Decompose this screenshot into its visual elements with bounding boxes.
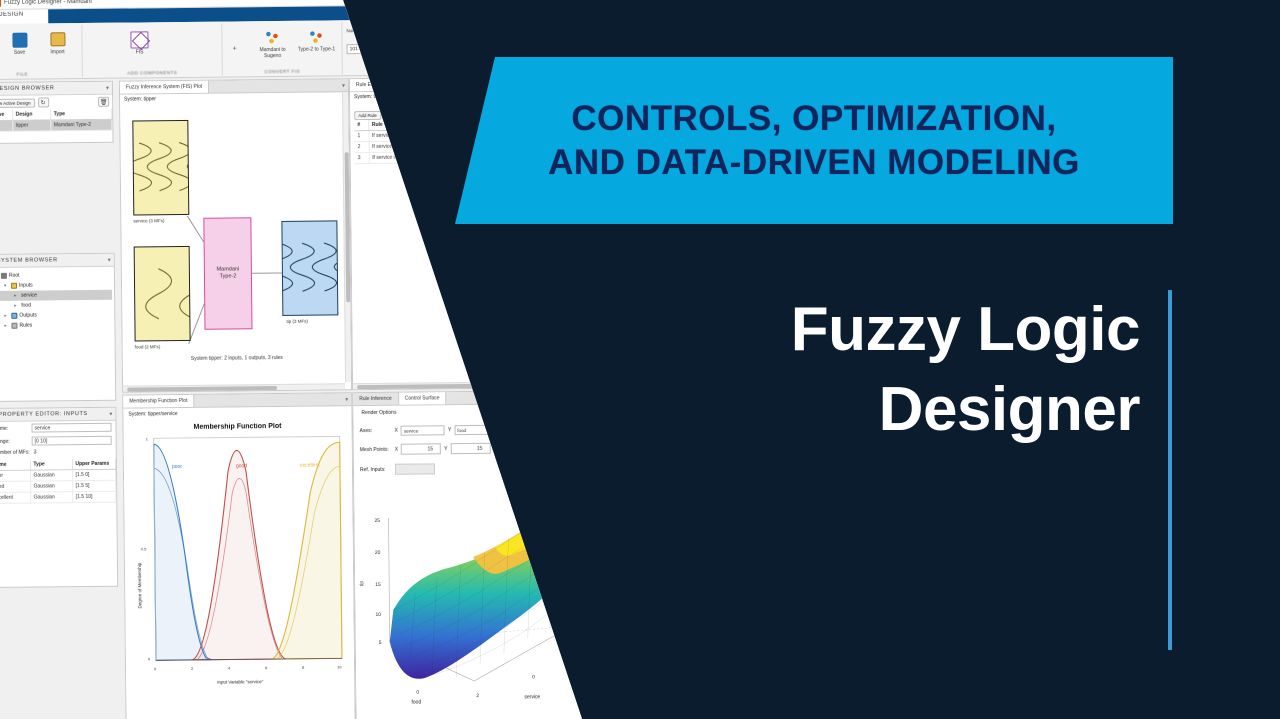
y-tick-0: 0 [148,656,150,661]
title-line-1: Fuzzy Logic [640,290,1140,370]
num-mfs-value: 3 [34,450,37,456]
mesh-points-row: Mesh Points: X 15 Y 15 [360,443,491,455]
fis-icon [122,29,156,49]
cell-mf-name: excellent [0,492,30,503]
fis-input1-label: service (3 MFs) [133,218,164,223]
ribbon-group-convert-fis: + Mamdani to Sugeno Type-2 to Type-1 CON… [222,22,343,75]
y-tick-05: 0.5 [141,546,147,551]
system-browser-panel: ▾ SYSTEM BROWSER ▾ ▾ Root ▾ Inputs [0,253,116,402]
output-icon [11,313,17,319]
ribbon-group-file: New Save Import FILE [0,25,83,78]
ribbon-group-simulation: Number of Samples 101 [342,21,423,74]
axes-x-select[interactable]: service [401,425,445,435]
name-label: Name: [0,425,28,431]
ribbon-button-type2-to-type1[interactable]: Type-2 to Type-1 [296,26,336,52]
headline-banner: CONTROLS, OPTIMIZATION, AND DATA-DRIVEN … [455,57,1173,224]
axes-y-select[interactable]: food [454,425,494,435]
col-type: Type [50,109,112,120]
mf-legend-poor: poor [172,464,182,470]
banner-text: CONTROLS, OPTIMIZATION, AND DATA-DRIVEN … [548,97,1080,185]
design-browser-toolbar: New Active Design ↻ 🗑 [0,95,112,110]
refresh-icon[interactable]: ↻ [38,97,49,107]
panel-menu-icon[interactable]: ▾ [106,84,109,91]
ribbon-button-import-label: Import [41,49,75,55]
svg-text:25: 25 [374,518,380,524]
svg-text:0: 0 [532,674,535,680]
svg-text:10: 10 [375,612,381,618]
mesh-points-label: Mesh Points: [360,446,392,452]
design-browser-panel: ▾ DESIGN BROWSER ▾ New Active Design ↻ 🗑… [0,81,114,144]
tab-rule-inference[interactable]: Rule Inference [353,393,399,405]
cell-mf-type: Gaussian [30,492,72,503]
ribbon-group-add-components-label: ADD COMPONENTS [83,70,222,76]
svg-text:tip: tip [359,581,365,587]
chevron-right-icon[interactable]: ▸ [4,313,9,319]
title-card-slide: Fuzzy Logic Designer - Mamdani DESIGN Ne… [0,0,1280,719]
tree-node-root-label: Root [9,273,20,279]
x-tick-10: 10 [337,664,342,669]
ribbon-button-type2-to-type1-label: Type-2 to Type-1 [297,46,337,52]
property-editor-title: PROPERTY EDITOR: INPUTS [0,411,106,418]
ref-inputs-label: Ref. Inputs: [360,466,392,472]
ribbon-button-fis[interactable]: FIS [122,29,156,55]
ribbon-button-fis-label: FIS [123,49,157,55]
property-nummfs-row: Number of MFs: 3 [0,447,116,458]
axes-row: Axes: X service Y food [360,425,495,436]
save-icon [2,30,36,50]
chevron-right-icon[interactable]: ▸ [14,303,19,309]
chevron-right-icon[interactable]: ▸ [4,323,9,329]
svg-text:5: 5 [379,640,382,646]
chevron-down-icon[interactable]: ▾ [4,283,9,289]
ribbon-button-save[interactable]: Save [2,30,36,56]
fis-input2-label: food (2 MFs) [135,344,161,349]
panel-menu-icon[interactable]: ▾ [108,256,111,263]
cell-mf-type: Gaussian [30,481,72,492]
mesh-y-input[interactable]: 15 [450,443,490,454]
fis-input2-box[interactable] [134,246,191,342]
system-browser-title: SYSTEM BROWSER [0,257,105,264]
cell-type: Mamdani Type-2 [50,119,112,131]
trash-icon[interactable]: 🗑 [98,97,109,107]
control-surface-body: Render Options Axes: X service Y food Me… [353,404,584,716]
render-options-label: Render Options [361,410,396,416]
accent-divider [1168,290,1172,650]
cell-rule-number: 1 [354,131,368,142]
cell-rule-number: 3 [355,153,369,164]
output-mf-thumbnail [282,221,337,315]
import-icon [40,29,74,49]
title-line-2: Designer [640,370,1140,450]
system-browser-header[interactable]: ▾ SYSTEM BROWSER ▾ [0,254,114,268]
tab-design[interactable]: DESIGN [0,12,24,18]
mf-y-axis-label: Degree of Membership [137,563,142,609]
mf-table: Name Type Upper Params poor Gaussian [1.… [0,459,116,504]
surface-y-axis-label: service [524,694,540,700]
mesh-x-symbol: X [395,446,398,452]
control-surface-tabbar[interactable]: Rule Inference Control Surface [353,391,581,406]
mf-plot-svg [124,432,357,694]
number-of-samples-label: Number of Samples [346,28,386,34]
col-mf-params: Upper Params [72,459,116,470]
ribbon-button-mamdani-to-sugeno-label: Mamdani to Sugeno [253,47,293,59]
fis-center-line2: Type-2 [219,273,236,280]
x-tick-8: 8 [302,665,304,670]
ref-inputs-input[interactable] [395,463,435,474]
mesh-x-input[interactable]: 15 [401,443,441,454]
tab-fis-plot[interactable]: Fuzzy Inference System (FIS) Plot [120,81,209,94]
tab-control-surface[interactable]: Control Surface [399,392,447,404]
table-row[interactable]: ✓ tipper Mamdani Type-2 [0,119,112,131]
range-field[interactable]: [0 10] [32,436,112,446]
property-name-row: Name: service [0,421,116,435]
ribbon-button-save-label: Save [3,50,37,56]
mamdani-sugeno-icon [252,27,292,47]
close-icon[interactable]: ▾ [339,79,348,91]
svg-text:15: 15 [375,582,381,588]
tree-node-rules-label: Rules [19,323,32,329]
rule-editor-subtitle: System: tipper [354,94,386,100]
design-browser-table: Active Design Type ✓ tipper Mamdani Type… [0,109,112,132]
cell-active[interactable]: ✓ [0,120,12,131]
mesh-y-symbol: Y [444,446,447,452]
number-of-samples-stepper[interactable]: 101 [347,44,376,54]
add-rule-button[interactable]: Add Rule [354,111,381,120]
x-tick-2: 2 [191,666,193,671]
fis-diagram: System: tipper [120,92,351,379]
axes-label: Axes: [360,428,392,434]
membership-function-plot: System: tipper/service Membership Functi… [123,406,354,718]
page-title: Fuzzy Logic Designer [640,290,1140,450]
svg-text:0: 0 [416,690,419,696]
ribbon-button-new-label: New [0,50,1,56]
col-mf-type: Type [30,459,72,470]
design-browser-title: DESIGN BROWSER [0,85,103,92]
mf-plot-title: Membership Function Plot [123,422,351,431]
property-editor-header[interactable]: ▾ PROPERTY EDITOR: INPUTS ▾ [0,408,115,422]
number-of-samples-input[interactable]: 101 [347,44,369,54]
tree-node-food-label: food [21,303,31,309]
plus-icon: + [233,45,237,52]
property-range-row: Range: [0 10] [0,434,116,448]
tab-rule-editor[interactable]: Rule Editor [350,79,388,91]
ref-inputs-row: Ref. Inputs: [360,463,435,475]
cell-mf-name: poor [0,470,30,481]
rule-editor-hscrollbar[interactable] [353,381,581,389]
type2-type1-icon [296,26,336,46]
col-active: Active [0,110,12,121]
fis-output-box[interactable] [281,220,338,316]
ribbon-group-add-components: FIS ADD COMPONENTS [82,24,223,77]
tab-membership-function-editor[interactable]: Membership Function Plot [123,395,194,408]
window-title: Fuzzy Logic Designer - Mamdani [4,0,92,5]
col-mf-name: Name [0,460,30,471]
mf-legend-excellent: excellent [300,463,320,469]
tree-node-outputs-label: Outputs [19,313,37,319]
cell-mf-params: [1.5 5] [72,480,116,491]
x-tick-4: 4 [228,666,230,671]
tree-node-inputs-label: Inputs [19,283,33,289]
fis-caption: System tipper: 2 inputs, 1 outputs, 3 ru… [191,355,283,362]
cell-rule-number: 2 [355,142,369,153]
tree-node-rules[interactable]: ▸ Rules [0,320,113,331]
surface-x-axis-label: food [411,700,421,706]
number-of-samples-spinner[interactable] [369,44,376,54]
new-file-icon [0,30,1,50]
input1-mf-thumbnail [133,121,188,215]
panel-menu-icon[interactable]: ▾ [109,410,112,417]
cell-mf-params: [1.5 0] [72,469,116,480]
name-field[interactable]: service [31,423,111,433]
control-surface-plot: 25 20 15 10 5 tip 0 2 0 [354,480,584,714]
ribbon-button-new[interactable]: New [0,30,1,56]
design-browser-header[interactable]: ▾ DESIGN BROWSER ▾ [0,82,112,96]
root-icon [1,273,7,279]
cell-mf-params: [1.5 10] [72,491,116,502]
fis-plot-panel: Fuzzy Inference System (FIS) Plot ▾ Syst… [119,78,352,392]
x-tick-6: 6 [265,665,267,670]
cell-mf-name: good [0,481,30,492]
col-rule-number: # [354,120,368,131]
ribbon-group-file-label: FILE [0,71,82,77]
col-design: Design [12,109,50,120]
cell-mf-type: Gaussian [30,470,72,481]
system-browser-tree: ▾ Root ▾ Inputs ▸ service ▸ [0,267,115,334]
fis-input1-box[interactable] [132,120,189,216]
chevron-right-icon[interactable]: ▸ [14,293,19,299]
input2-mf-thumbnail [135,247,190,341]
banner-line-1: CONTROLS, OPTIMIZATION, [548,97,1080,141]
table-row[interactable]: excellent Gaussian [1.5 10] [0,491,116,503]
axes-y-symbol: Y [448,427,451,433]
panel-menu-icon[interactable]: ▾ [342,393,351,405]
ribbon-group-convert-fis-label: CONVERT FIS [223,68,342,74]
input-icon [11,283,17,289]
fis-plot-hscrollbar[interactable] [123,383,345,391]
rules-icon [11,323,17,329]
property-editor-panel: ▾ PROPERTY EDITOR: INPUTS ▾ Name: servic… [0,407,118,588]
tree-node-service-label: service [21,293,37,299]
svg-text:2: 2 [476,693,479,699]
num-mfs-label: Number of MFs: [0,450,30,456]
new-active-design-button[interactable]: New Active Design [0,98,35,107]
x-tick-0: 0 [154,666,156,671]
ribbon-button-mamdani-to-sugeno[interactable]: Mamdani to Sugeno [252,27,292,59]
mf-legend-good: good [236,463,247,469]
matlab-app-icon [0,0,1,6]
ribbon-button-import[interactable]: Import [40,29,74,55]
y-tick-1: 1 [146,436,148,441]
mf-plot-subtitle: System: tipper/service [128,411,177,418]
banner-line-2: AND DATA-DRIVEN MODELING [548,141,1080,185]
membership-function-editor-panel: Membership Function Plot ▾ System: tippe… [122,392,356,719]
axes-x-symbol: X [395,428,398,434]
range-label: Range: [0,438,28,444]
fis-inference-box[interactable]: Mamdani Type-2 [203,217,252,329]
svg-text:20: 20 [375,550,381,556]
control-surface-panel: Rule Inference Control Surface Render Op… [352,390,586,719]
cell-design: tipper [12,120,50,131]
fis-output-label: tip (3 MFs) [286,319,308,324]
